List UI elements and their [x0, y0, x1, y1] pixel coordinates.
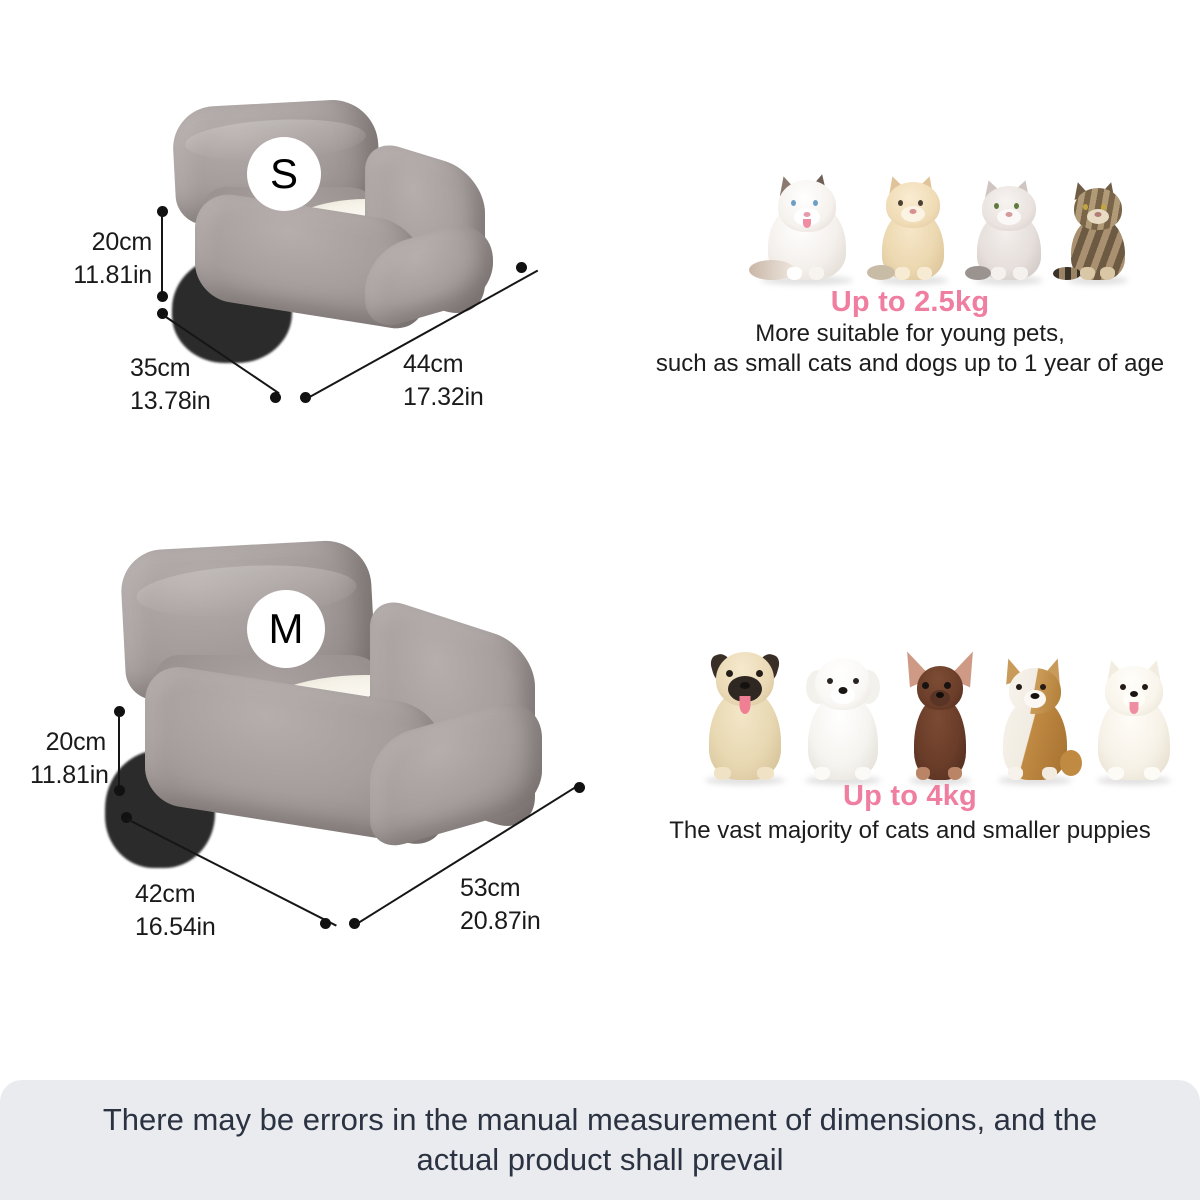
dim-dot-s-depth-end [270, 392, 281, 403]
cat-tail [965, 266, 991, 280]
cat-tongue [803, 219, 811, 228]
cat-paw-right [917, 267, 932, 280]
dog-eye-left [922, 682, 929, 689]
dog-paw-left [814, 767, 830, 780]
cat-paw-left [991, 267, 1006, 280]
dog-paw-right [1144, 767, 1160, 780]
dog-nose [936, 692, 944, 698]
dog-tongue [740, 696, 751, 714]
dim-dot-m-depth-end [320, 918, 331, 929]
cat-eye-left [898, 200, 903, 206]
dim-dot-s-height-bottom [157, 291, 168, 302]
size-badge-m-label: M [269, 605, 304, 653]
dog-paw-right [1042, 767, 1057, 780]
description-s-line-2: such as small cats and dogs up to 1 year… [640, 350, 1180, 378]
dim-label-s-width: 44cm 17.32in [403, 348, 484, 414]
pet-tabby-cat [1061, 176, 1135, 280]
dog-eye-left [1120, 684, 1126, 690]
cat-nose [804, 212, 811, 217]
footer-line-2: actual product shall prevail [103, 1140, 1097, 1180]
dog-eye-right [756, 670, 763, 677]
dim-label-m-depth-cm: 42cm [135, 880, 195, 908]
cat-eye-left [791, 200, 796, 206]
cat-paw-right [1100, 267, 1115, 280]
dog-eye-right [1040, 684, 1046, 690]
cat-eye-left [1083, 204, 1088, 210]
dim-label-m-width: 53cm 20.87in [460, 872, 541, 938]
dim-label-m-depth: 42cm 16.54in [135, 878, 216, 944]
dog-paw-left [714, 767, 731, 780]
cat-eye-right [813, 200, 818, 206]
dog-paw-right [757, 767, 774, 780]
dog-eye-right [944, 682, 951, 689]
dog-nose [740, 682, 750, 689]
dim-line-m-height [118, 713, 120, 791]
dog-eye-left [827, 678, 833, 684]
footer-text: There may be errors in the manual measur… [103, 1100, 1097, 1181]
dim-label-m-depth-in: 16.54in [135, 911, 216, 944]
dim-label-m-height: 20cm 11.81in [30, 726, 106, 792]
size-section-m: M 20cm 11.81in 42cm 16.54in 53cm 20.87in [0, 470, 1200, 1060]
pet-bichon-frise [800, 650, 886, 780]
size-badge-s-label: S [270, 150, 298, 198]
dog-tail [1060, 750, 1082, 776]
product-size-guide-page: { "page": { "background": "#ffffff", "ac… [0, 0, 1200, 1200]
footer-disclaimer: There may be errors in the manual measur… [0, 1080, 1200, 1200]
dim-label-s-height-in: 11.81in [72, 259, 152, 292]
description-m-line-1: The vast majority of cats and smaller pu… [620, 817, 1200, 845]
dog-eye-left [1016, 684, 1022, 690]
footer-line-1: There may be errors in the manual measur… [103, 1100, 1097, 1140]
cat-paw-left [1080, 267, 1095, 280]
dog-eye-right [1142, 684, 1148, 690]
dim-label-s-height-cm: 20cm [92, 228, 152, 256]
dog-paw-left [1008, 767, 1023, 780]
size-badge-m: M [247, 590, 325, 668]
weight-label-s: Up to 2.5kg [640, 286, 1180, 319]
dog-tongue [1130, 702, 1139, 714]
pet-silver-british-shorthair [969, 172, 1049, 280]
pet-ginger-british-shorthair [873, 168, 953, 280]
cat-tail [1053, 267, 1081, 280]
cat-paw-left [787, 267, 802, 280]
dim-label-m-width-in: 20.87in [460, 905, 541, 938]
dim-label-s-depth-cm: 35cm [130, 354, 190, 382]
pet-pug [700, 642, 790, 780]
cat-eye-right [918, 200, 923, 206]
size-section-s: S 20cm 11.81in 35cm 13.78in 44cm 17.32in [0, 0, 1200, 470]
dim-label-m-height-in: 11.81in [30, 759, 106, 792]
pet-row-dogs [700, 635, 1150, 780]
dim-line-s-height [161, 213, 163, 297]
dim-label-m-height-cm: 20cm [46, 728, 106, 756]
pet-pomeranian [1092, 654, 1176, 780]
size-badge-s: S [247, 137, 321, 211]
dog-paw-left [916, 767, 930, 780]
pet-corgi [992, 652, 1078, 780]
dog-nose [839, 687, 848, 694]
pet-ragdoll-cat [755, 162, 859, 280]
dog-nose [1130, 691, 1138, 697]
dog-paw-right [855, 767, 871, 780]
dog-paw-left [1108, 767, 1124, 780]
cat-nose [1095, 212, 1102, 217]
cat-tail [867, 265, 895, 280]
dog-nose [1031, 693, 1040, 699]
dog-eye-left [726, 670, 733, 677]
dog-eye-right [853, 678, 859, 684]
cat-nose [910, 209, 917, 214]
weight-label-m: Up to 4kg [640, 780, 1180, 813]
dim-dot-m-width-end [574, 782, 585, 793]
cat-eye-left [994, 203, 999, 209]
cat-paw-left [895, 267, 910, 280]
dim-label-s-depth-in: 13.78in [130, 385, 211, 418]
cat-eye-right [1101, 204, 1106, 210]
dim-label-s-width-in: 17.32in [403, 381, 484, 414]
dim-dot-s-width-end [516, 262, 527, 273]
dim-label-s-width-cm: 44cm [403, 350, 463, 378]
cat-paw-right [809, 267, 824, 280]
pet-row-cats [755, 155, 1115, 280]
dim-label-m-width-cm: 53cm [460, 874, 520, 902]
cat-eye-right [1014, 203, 1019, 209]
dim-label-s-height: 20cm 11.81in [72, 226, 152, 292]
pet-chihuahua [900, 646, 980, 780]
description-s-line-1: More suitable for young pets, [640, 320, 1180, 348]
dog-paw-right [948, 767, 962, 780]
dim-label-s-depth: 35cm 13.78in [130, 352, 211, 418]
dim-dot-m-height-bottom [114, 785, 125, 796]
cat-paw-right [1013, 267, 1028, 280]
product-image-s: S [150, 95, 550, 395]
cat-nose [1006, 212, 1013, 217]
